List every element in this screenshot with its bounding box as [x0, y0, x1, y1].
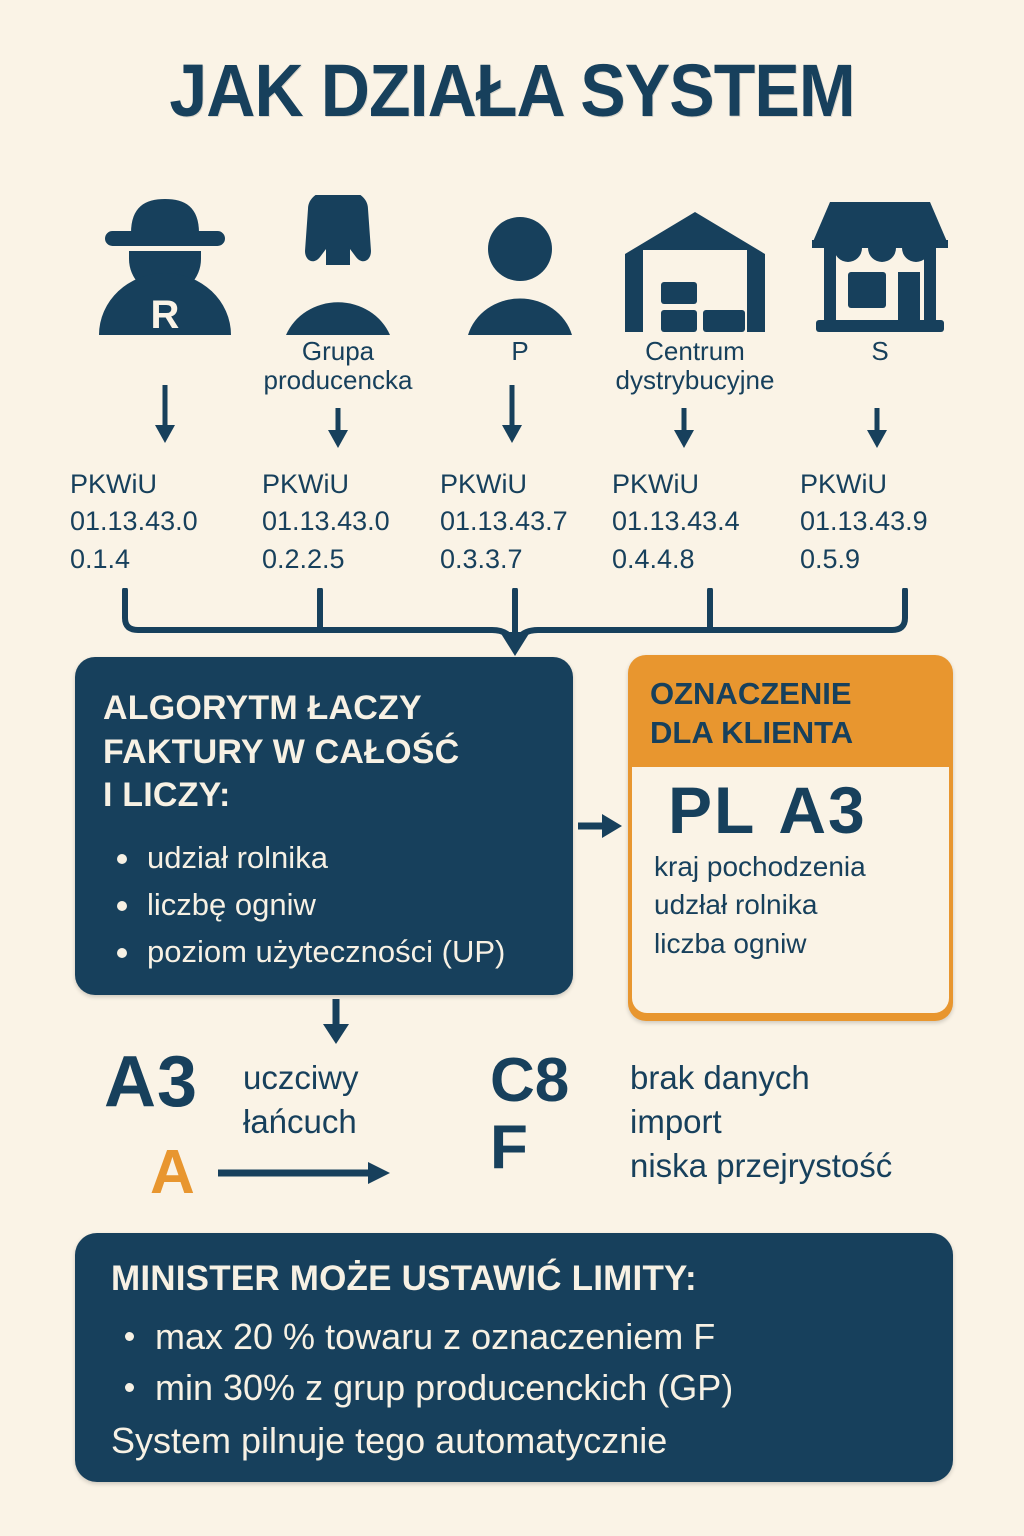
pkwiu-code-line1: 01.13.43.4	[612, 503, 812, 540]
grade-bad-description-line-1: brak danych	[630, 1056, 990, 1100]
pkwiu-column-3: PKWiU 01.13.43.7 0.3.3.7	[440, 466, 640, 578]
customer-marking-legend: kraj pochodzenia udzłał rolnika liczba o…	[654, 848, 949, 964]
grade-good-description: uczciwy łańcuch	[243, 1056, 443, 1143]
customer-marking-panel: OZNACZENIE DLA KLIENTA PLA3 kraj pochodz…	[628, 655, 953, 1021]
marking-grade-code: A3	[778, 773, 866, 847]
algorithm-bullet-list: udział rolnika liczbę ogniw poziom użyte…	[103, 834, 545, 975]
chain-actor-label: Grupaproducencka	[248, 337, 428, 395]
grade-bad-description-line-2: import	[630, 1100, 990, 1144]
customer-marking-header: OZNACZENIE DLA KLIENTA	[632, 659, 949, 767]
pkwiu-heading: PKWiU	[70, 466, 270, 503]
algorithm-title: ALGORYTM ŁACZY FAKTURY W CAŁOŚĆ I LICZY:	[103, 687, 545, 818]
person-icon	[430, 195, 610, 335]
list-item: min 30% z grup producenckich (GP)	[111, 1362, 917, 1413]
marking-legend-line-2: udzłał rolnika	[654, 886, 949, 925]
chain-actor-distribution-center: Centrumdystrybucyjne	[605, 195, 785, 395]
shop-icon	[790, 195, 970, 335]
page-title: JAK DZIAŁA SYSTEM	[41, 48, 983, 133]
grade-bad-description-line-3: niska przejrystość	[630, 1144, 990, 1188]
minister-limits-list: max 20 % towaru z oznaczeniem F min 30% …	[111, 1311, 917, 1413]
pkwiu-heading: PKWiU	[800, 466, 1000, 503]
list-item: poziom użyteczności (UP)	[103, 928, 545, 975]
chain-actor-farmer: R	[75, 195, 255, 337]
chain-actor-label: P	[430, 337, 610, 366]
pkwiu-code-line1: 01.13.43.9	[800, 503, 1000, 540]
pkwiu-code-line2: 0.3.3.7	[440, 541, 640, 578]
pkwiu-heading: PKWiU	[612, 466, 812, 503]
marking-legend-line-3: liczba ogniw	[654, 925, 949, 964]
customer-marking-header-line-1: OZNACZENIE	[650, 675, 949, 714]
infographic-canvas: JAK DZIAŁA SYSTEM R Grupaproducencka	[0, 0, 1024, 1536]
algorithm-title-line-3: I LICZY:	[103, 774, 545, 818]
pkwiu-code-line2: 0.2.2.5	[262, 541, 462, 578]
minister-limits-footer: System pilnuje tego automatycznie	[111, 1415, 917, 1466]
algorithm-to-marking-arrow	[578, 806, 626, 846]
algorithm-panel: ALGORYTM ŁACZY FAKTURY W CAŁOŚĆ I LICZY:…	[75, 657, 573, 995]
chain-down-arrow-2	[327, 408, 349, 450]
grade-progress-arrow	[218, 1160, 394, 1186]
pkwiu-column-5: PKWiU 01.13.43.9 0.5.9	[800, 466, 1000, 578]
algorithm-title-line-2: FAKTURY W CAŁOŚĆ	[103, 731, 545, 775]
marking-country-code: PL	[668, 773, 756, 847]
chain-down-arrow-5	[866, 408, 888, 450]
list-item: max 20 % towaru z oznaczeniem F	[111, 1311, 917, 1362]
svg-text:R: R	[151, 293, 180, 335]
grade-bad-description: brak danych import niska przejrystość	[630, 1056, 990, 1188]
grade-bad-codes: C8 F	[490, 1048, 569, 1182]
marking-legend-line-1: kraj pochodzenia	[654, 848, 949, 887]
grade-bad-code-line-1: C8	[490, 1048, 569, 1115]
pkwiu-code-line1: 01.13.43.0	[262, 503, 462, 540]
pkwiu-code-line1: 01.13.43.0	[70, 503, 270, 540]
woman-producer-icon	[248, 195, 428, 335]
pkwiu-heading: PKWiU	[262, 466, 462, 503]
chain-actor-processor: P	[430, 195, 610, 366]
pkwiu-code-line2: 0.1.4	[70, 541, 270, 578]
pkwiu-code-line1: 01.13.43.7	[440, 503, 640, 540]
merge-bracket-connector	[120, 588, 910, 658]
pkwiu-code-line2: 0.5.9	[800, 541, 1000, 578]
chain-actor-shop: S	[790, 195, 970, 366]
chain-actor-producer-group: Grupaproducencka	[248, 195, 428, 395]
pkwiu-column-4: PKWiU 01.13.43.4 0.4.4.8	[612, 466, 812, 578]
grade-good-mark-icon: A	[150, 1142, 195, 1204]
grade-good-code: A3	[104, 1046, 198, 1118]
pkwiu-column-1: PKWiU 01.13.43.0 0.1.4	[70, 466, 270, 578]
warehouse-icon	[605, 195, 785, 335]
chain-down-arrow-4	[673, 408, 695, 450]
list-item: udział rolnika	[103, 834, 545, 881]
pkwiu-code-line2: 0.4.4.8	[612, 541, 812, 578]
grade-bad-code-line-2: F	[490, 1115, 569, 1182]
minister-limits-title: MINISTER MOŻE USTAWIĆ LIMITY:	[111, 1259, 917, 1299]
algorithm-down-arrow	[320, 999, 352, 1045]
pkwiu-heading: PKWiU	[440, 466, 640, 503]
customer-marking-body: PLA3 kraj pochodzenia udzłał rolnika lic…	[632, 767, 949, 1013]
chain-actor-label: S	[790, 337, 970, 366]
minister-limits-panel: MINISTER MOŻE USTAWIĆ LIMITY: max 20 % t…	[75, 1233, 953, 1482]
chain-down-arrow-1	[154, 385, 176, 445]
customer-marking-header-line-2: DLA KLIENTA	[650, 714, 949, 753]
pkwiu-column-2: PKWiU 01.13.43.0 0.2.2.5	[262, 466, 462, 578]
algorithm-title-line-1: ALGORYTM ŁACZY	[103, 687, 545, 731]
list-item: liczbę ogniw	[103, 881, 545, 928]
chain-actor-label: Centrumdystrybucyjne	[605, 337, 785, 395]
chain-down-arrow-3	[501, 385, 523, 445]
grade-good-description-line-1: uczciwy	[243, 1056, 443, 1100]
grade-good-description-line-2: łańcuch	[243, 1100, 443, 1144]
farmer-with-hat-icon: R	[75, 195, 255, 335]
customer-marking-code: PLA3	[668, 777, 949, 844]
